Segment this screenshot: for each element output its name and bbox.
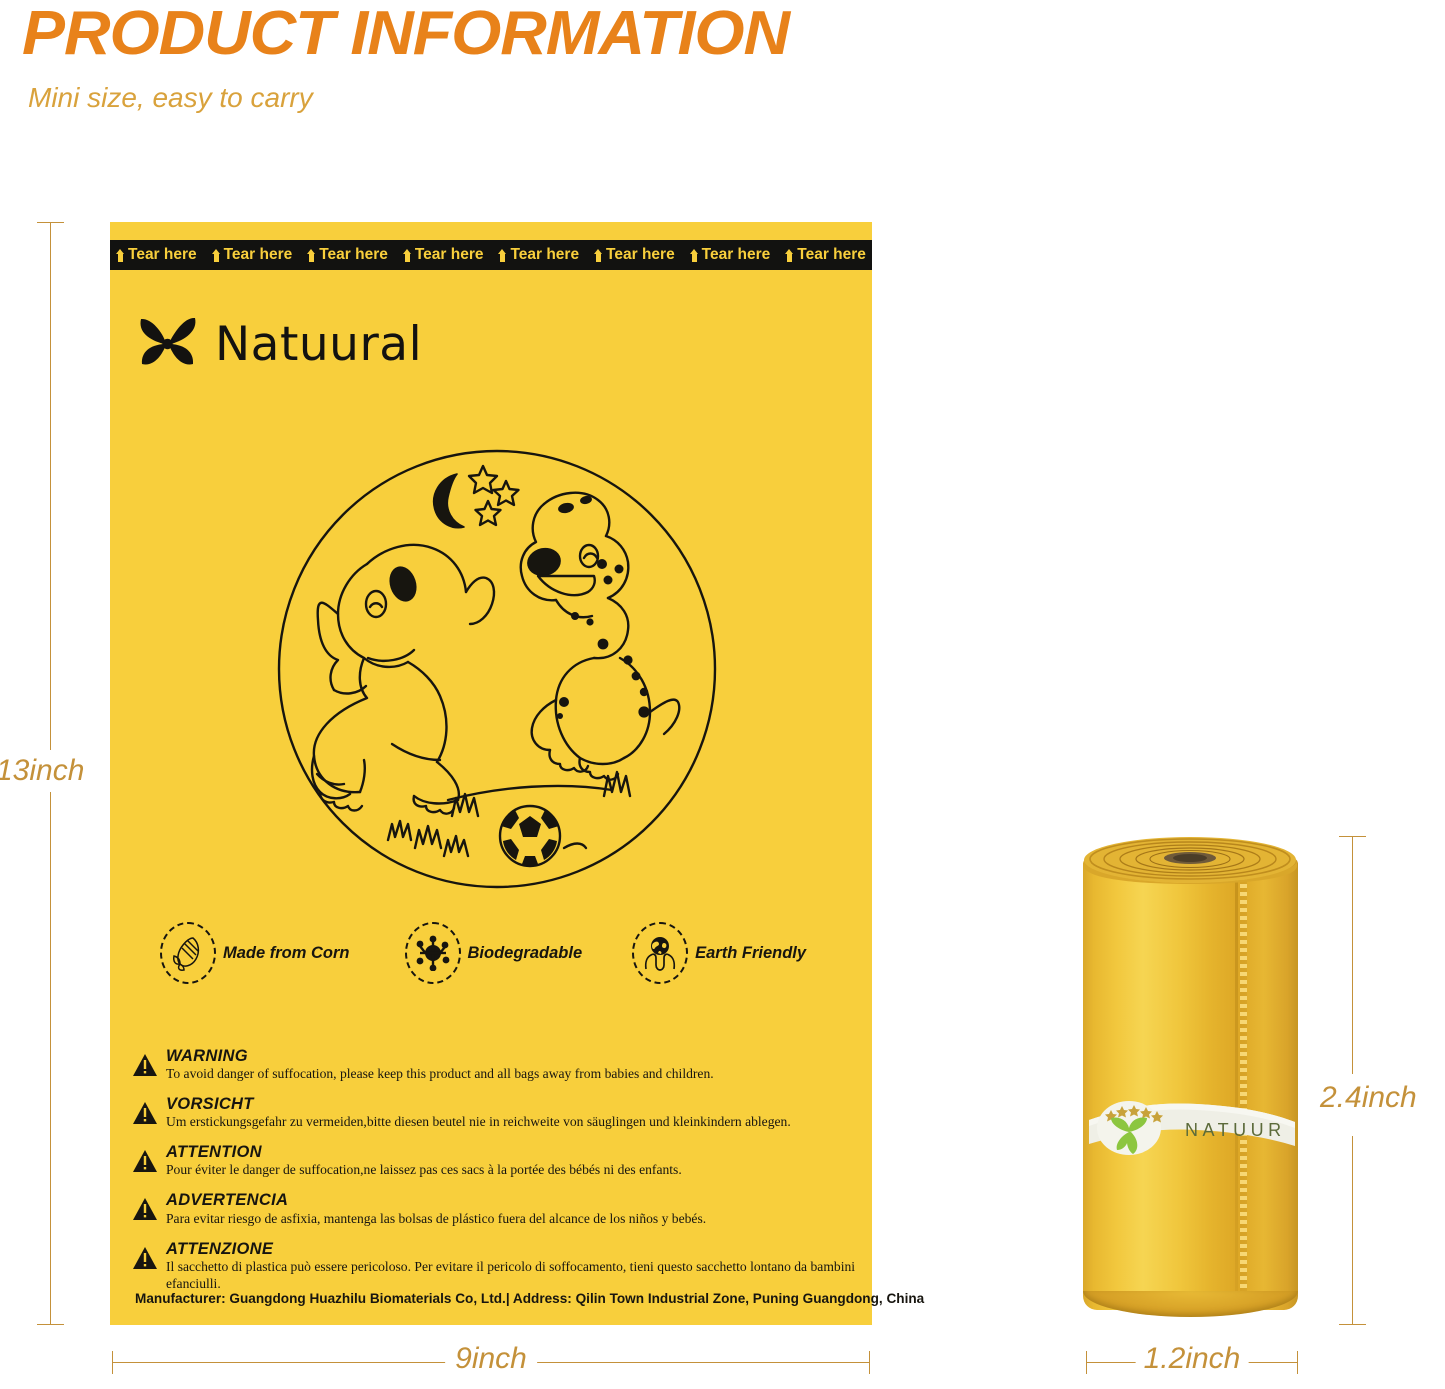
up-arrow-icon xyxy=(498,249,507,262)
up-arrow-icon xyxy=(594,249,603,262)
earth-in-hands-icon xyxy=(632,922,688,984)
warning-triangle-icon xyxy=(132,1053,158,1077)
bag-roll: NATUUR xyxy=(1083,836,1298,1325)
warning-item: ATTENZIONE Il sacchetto di plastica può … xyxy=(132,1240,857,1293)
tear-here-item: Tear here xyxy=(403,246,484,264)
badge-biodegradable: Biodegradable xyxy=(405,922,583,984)
bag-width-label: 9inch xyxy=(445,1342,537,1376)
warning-heading: VORSICHT xyxy=(166,1095,857,1113)
roll-label-text: NATUUR xyxy=(1185,1120,1286,1140)
roll-height-dimension-line: 2.4inch xyxy=(1352,836,1353,1325)
badge-label: Earth Friendly xyxy=(695,944,806,963)
badge-earth-friendly: Earth Friendly xyxy=(632,922,806,984)
warning-triangle-icon xyxy=(132,1246,158,1270)
tear-here-item: Tear here xyxy=(785,246,866,264)
tear-here-label: Tear here xyxy=(606,246,675,264)
tear-here-label: Tear here xyxy=(319,246,388,264)
roll-perforation xyxy=(1240,876,1247,1291)
roll-coil-top xyxy=(1083,836,1298,884)
tear-here-label: Tear here xyxy=(415,246,484,264)
tear-here-label: Tear here xyxy=(510,246,579,264)
badge-label: Made from Corn xyxy=(223,944,350,963)
roll-body xyxy=(1083,858,1298,1310)
warning-text: To avoid danger of suffocation, please k… xyxy=(166,1066,857,1083)
warning-text: Para evitar riesgo de asfixia, mantenga … xyxy=(166,1211,857,1228)
two-dogs-circle-illustration xyxy=(272,444,722,894)
roll-height-label: 2.4inch xyxy=(1316,1078,1421,1118)
brand-lockup: Natuural xyxy=(135,314,422,374)
roll-width-label: 1.2inch xyxy=(1136,1342,1249,1376)
warning-item: WARNING To avoid danger of suffocation, … xyxy=(132,1047,857,1083)
roll-bottom-edge xyxy=(1083,1291,1298,1317)
badge-label: Biodegradable xyxy=(468,944,583,963)
tear-here-item: Tear here xyxy=(594,246,675,264)
warning-triangle-icon xyxy=(132,1149,158,1173)
roll-width-dimension-line: 1.2inch xyxy=(1086,1362,1298,1363)
up-arrow-icon xyxy=(307,249,316,262)
up-arrow-icon xyxy=(403,249,412,262)
warning-text: Pour éviter le danger de suffocation,ne … xyxy=(166,1162,857,1179)
tear-here-label: Tear here xyxy=(797,246,866,264)
butterfly-leaf-logo-icon xyxy=(135,314,201,374)
tear-here-item: Tear here xyxy=(212,246,293,264)
up-arrow-icon xyxy=(690,249,699,262)
brand-name: Natuural xyxy=(215,317,422,372)
molecule-icon xyxy=(405,922,461,984)
feature-badge-row: Made from Corn xyxy=(150,922,850,984)
tear-here-item: Tear here xyxy=(498,246,579,264)
tear-here-label: Tear here xyxy=(702,246,771,264)
tear-here-strip: Tear here Tear here Tear here Tear here … xyxy=(110,240,872,270)
warning-text: Il sacchetto di plastica può essere peri… xyxy=(166,1259,857,1293)
roll-seam xyxy=(1235,874,1238,1294)
warning-item: VORSICHT Um erstickungsgefahr zu vermeid… xyxy=(132,1095,857,1131)
page-subtitle: Mini size, easy to carry xyxy=(28,82,313,114)
poop-bag-front: Tear here Tear here Tear here Tear here … xyxy=(110,222,872,1325)
tear-here-item: Tear here xyxy=(307,246,388,264)
up-arrow-icon xyxy=(212,249,221,262)
badge-made-from-corn: Made from Corn xyxy=(160,922,350,984)
up-arrow-icon xyxy=(116,249,125,262)
tear-here-label: Tear here xyxy=(128,246,197,264)
bag-height-label: 13inch xyxy=(0,750,86,792)
warning-text: Um erstickungsgefahr zu vermeiden,bitte … xyxy=(166,1114,857,1131)
warning-list: WARNING To avoid danger of suffocation, … xyxy=(132,1047,857,1305)
warning-triangle-icon xyxy=(132,1101,158,1125)
warning-heading: ADVERTENCIA xyxy=(166,1191,857,1209)
warning-heading: ATTENZIONE xyxy=(166,1240,857,1258)
product-information-graphic: PRODUCT INFORMATION Mini size, easy to c… xyxy=(0,0,1445,1389)
page-title: PRODUCT INFORMATION xyxy=(22,0,789,69)
tear-here-label: Tear here xyxy=(224,246,293,264)
warning-triangle-icon xyxy=(132,1197,158,1221)
bag-width-dimension-line: 9inch xyxy=(112,1362,870,1363)
up-arrow-icon xyxy=(785,249,794,262)
warning-item: ADVERTENCIA Para evitar riesgo de asfixi… xyxy=(132,1191,857,1227)
roll-sticker-label: NATUUR xyxy=(1089,1098,1295,1164)
warning-heading: WARNING xyxy=(166,1047,857,1065)
tear-here-item: Tear here xyxy=(116,246,197,264)
manufacturer-line: Manufacturer: Guangdong Huazhilu Biomate… xyxy=(135,1291,855,1306)
corn-icon xyxy=(160,922,216,984)
tear-here-item: Tear here xyxy=(690,246,771,264)
warning-item: ATTENTION Pour éviter le danger de suffo… xyxy=(132,1143,857,1179)
warning-heading: ATTENTION xyxy=(166,1143,857,1161)
